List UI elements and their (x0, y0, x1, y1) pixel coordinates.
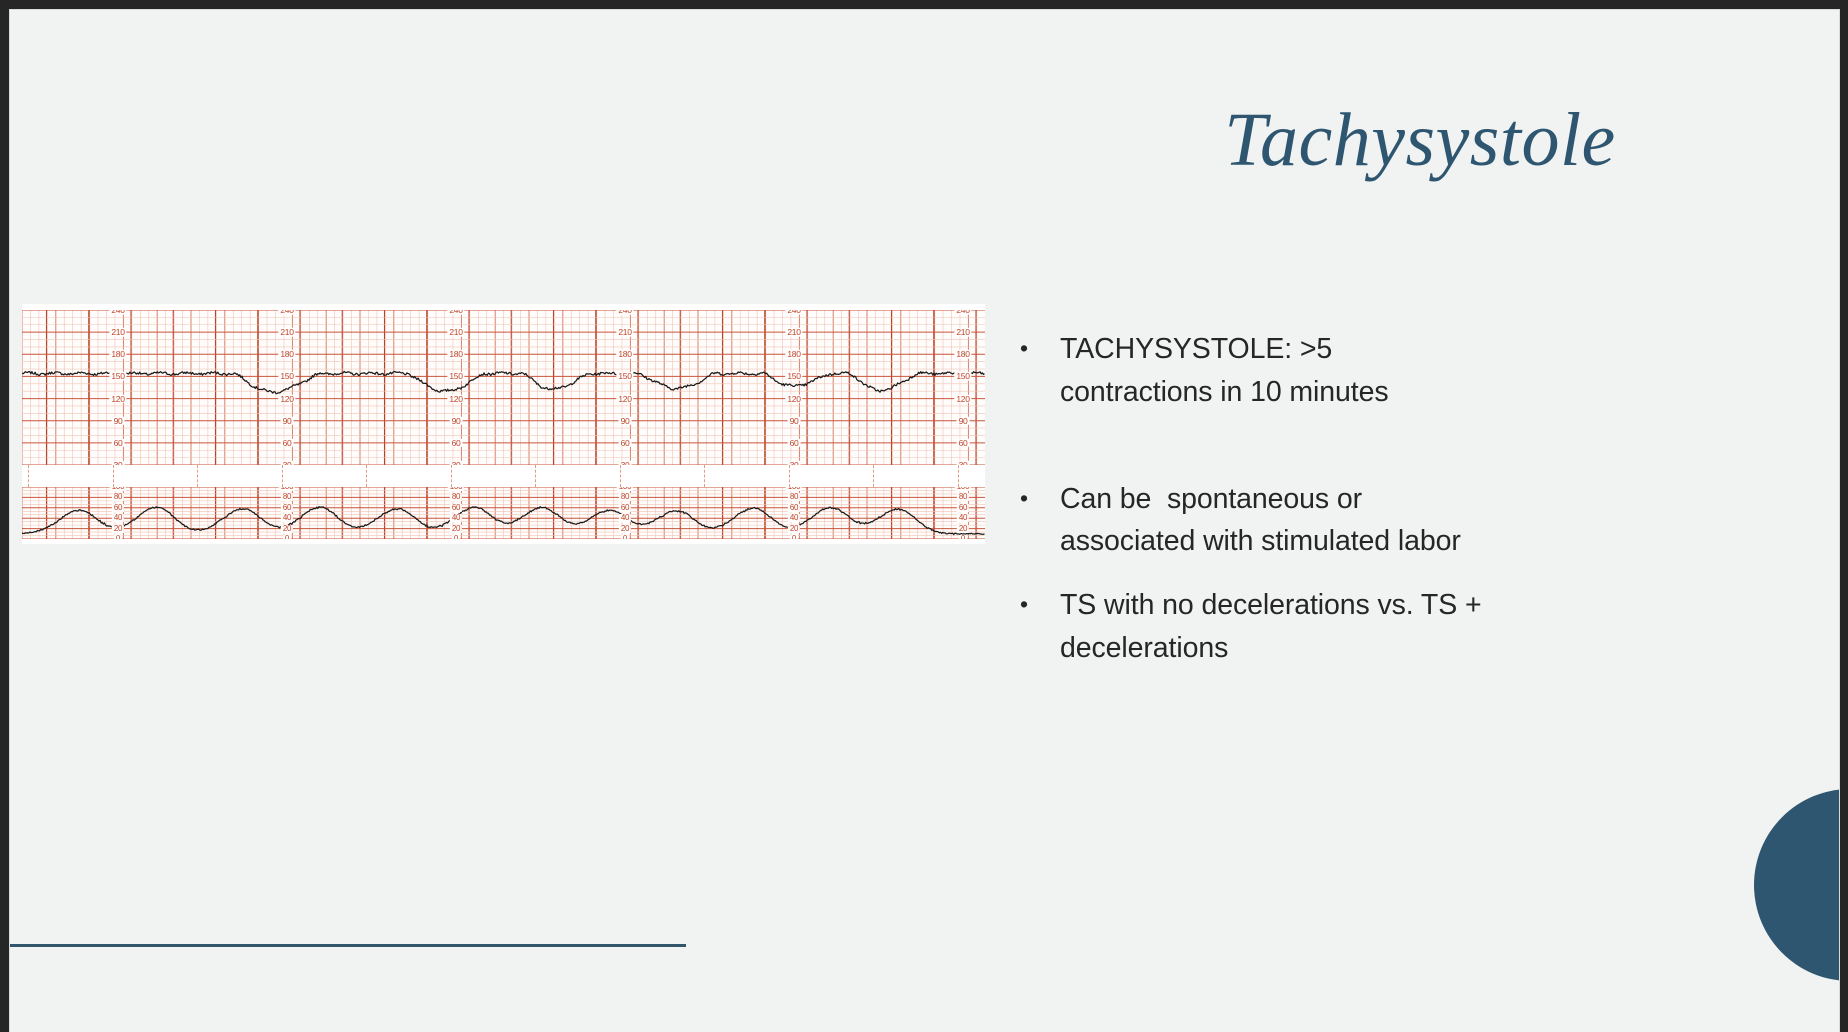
time-marker-tick (28, 465, 29, 487)
bullet-text: TS with no decelerations vs. TS + decele… (1060, 584, 1490, 670)
ctg-panel-gap (22, 465, 985, 487)
bullet-point-icon: • (1020, 478, 1060, 519)
fhr-panel: 2402101801501209060302402101801501209060… (22, 310, 985, 465)
list-item: • TS with no decelerations vs. TS + dece… (1020, 584, 1490, 670)
ctg-monitoring-strip: 2402101801501209060302402101801501209060… (22, 304, 985, 544)
bullet-text: Can be spontaneous or associated with st… (1060, 478, 1490, 564)
bullet-point-icon: • (1020, 328, 1060, 369)
decorative-circle (1754, 789, 1840, 981)
slide-root: 2402101801501209060302402101801501209060… (0, 0, 1848, 1032)
time-marker-tick (113, 465, 114, 487)
time-marker-tick (873, 465, 874, 487)
bullet-text: TACHYSYSTOLE: >5 contractions in 10 minu… (1060, 328, 1490, 414)
fhr-trace-line (22, 310, 985, 465)
time-marker-tick (620, 465, 621, 487)
slide-canvas: 2402101801501209060302402101801501209060… (9, 9, 1840, 1032)
time-marker-tick (789, 465, 790, 487)
bullet-point-icon: • (1020, 584, 1060, 625)
time-marker-tick (535, 465, 536, 487)
page-title: Tachysystole (1020, 102, 1820, 178)
time-marker-tick (451, 465, 452, 487)
list-item: • TACHYSYSTOLE: >5 contractions in 10 mi… (1020, 328, 1490, 414)
time-marker-tick (704, 465, 705, 487)
time-marker-tick (197, 465, 198, 487)
bullet-list: • TACHYSYSTOLE: >5 contractions in 10 mi… (1020, 328, 1490, 670)
toco-panel: 1008060402001008060402001008060402001008… (22, 487, 985, 539)
decorative-rule (10, 944, 686, 947)
time-marker-tick (958, 465, 959, 487)
list-item: • Can be spontaneous or associated with … (1020, 478, 1490, 564)
toco-trace-line (22, 487, 985, 539)
time-marker-tick (282, 465, 283, 487)
time-marker-tick (366, 465, 367, 487)
